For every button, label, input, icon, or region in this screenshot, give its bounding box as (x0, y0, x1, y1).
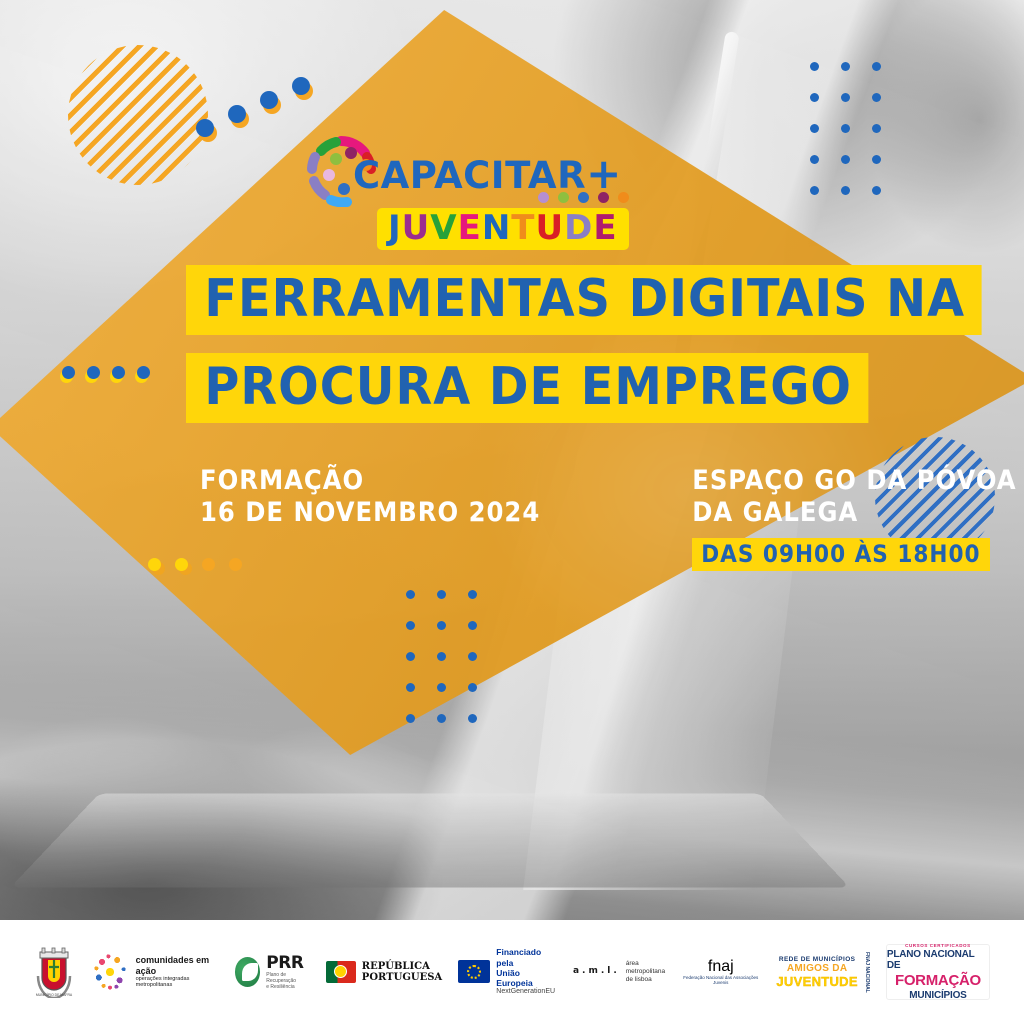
grid-dot (437, 652, 446, 661)
event-date-text: FORMAÇÃO 16 DE NOVEMBRO 2024 (200, 465, 540, 529)
comunidades-burst-icon (90, 949, 130, 995)
event-details: FORMAÇÃO 16 DE NOVEMBRO 2024 ESPAÇO GO D… (200, 465, 1017, 571)
grid-dot (810, 62, 819, 71)
capacitar-juventude-logo: CAPACITAR+ JUVENTUDE (305, 133, 725, 253)
event-venue-text: ESPAÇO GO DA PÓVOA DA GALEGA (692, 465, 1016, 529)
grid-dot (406, 590, 415, 599)
juventude-letter: U (402, 208, 431, 248)
capacitar-dot (598, 192, 609, 203)
grid-dot (872, 124, 881, 133)
grid-dot (872, 186, 881, 195)
rede-line-2: AMIGOS DA (776, 963, 857, 974)
grid-dot (406, 714, 415, 723)
juventude-letter: E (593, 208, 617, 248)
logo-comunidades-em-acao: comunidades em ação operações integradas… (90, 949, 219, 995)
fnaj-word-1: fn (708, 958, 721, 975)
prr-leaf-icon (235, 957, 261, 987)
logo-area-metropolitana-lisboa: a.m.l. área metropolitana de lisboa (573, 960, 665, 983)
rede-line-3: JUVENTUDE (776, 974, 857, 989)
portugal-flag-icon (326, 961, 356, 983)
title-line-1: FERRAMENTAS DIGITAIS NA (186, 265, 981, 335)
juventude-letter: E (458, 208, 482, 248)
grid-dot (437, 714, 446, 723)
grid-dot (841, 62, 850, 71)
capacitar-dot (538, 192, 549, 203)
juventude-letter: J (388, 208, 402, 248)
republica-line-2: PORTUGUESA (362, 972, 442, 983)
poster-title: FERRAMENTAS DIGITAIS NA PROCURA DE EMPRE… (186, 265, 966, 423)
grid-dot (468, 714, 477, 723)
grid-dot (872, 155, 881, 164)
eu-line-2: União Europeia (496, 968, 557, 988)
coat-of-arms-icon: MUNICÍPIO DE MAFRA (34, 946, 74, 998)
capacitar-dot (578, 192, 589, 203)
capacitar-plus-sign: + (586, 149, 622, 198)
grid-dot (841, 155, 850, 164)
juventude-letter: T (511, 208, 535, 248)
grid-dot (841, 93, 850, 102)
title-line-2: PROCURA DE EMPREGO (186, 353, 868, 423)
event-time-badge: DAS 09H00 ÀS 18H00 (692, 538, 989, 571)
aml-line-1: área (626, 960, 665, 968)
comunidades-line-1: comunidades em ação (136, 955, 219, 976)
grid-dot (437, 590, 446, 599)
grid-dot (810, 186, 819, 195)
capacitar-dot (618, 192, 629, 203)
aml-monogram: a.m.l. (573, 966, 620, 977)
logo-republica-portuguesa: REPÚBLICA PORTUGUESA (326, 961, 442, 983)
coat-of-arms-caption: MUNICÍPIO DE MAFRA (36, 993, 73, 997)
capacitar-wordmark: CAPACITAR+ (353, 149, 622, 198)
grid-dot (872, 93, 881, 102)
striped-circle-orange-icon (68, 45, 208, 185)
event-detail-date: FORMAÇÃO 16 DE NOVEMBRO 2024 (200, 465, 540, 571)
juventude-letter: U (536, 208, 565, 248)
comunidades-line-2: operações integradas metropolitanas (136, 976, 219, 989)
republica-line-1: REPÚBLICA (362, 961, 442, 972)
logo-municipal-coat-of-arms: MUNICÍPIO DE MAFRA (34, 946, 74, 998)
grid-dot (406, 683, 415, 692)
capacitar-text: CAPACITAR (353, 154, 586, 197)
eu-line-3: NextGenerationEU (496, 988, 557, 996)
eu-flag-icon (458, 960, 490, 983)
pnf-line-1: PLANO NACIONAL DE (887, 949, 989, 971)
pnf-line-0: CURSOS CERTIFICADOS (905, 943, 971, 948)
logo-rede-municipios-amigos-juventude: REDE DE MUNICÍPIOS AMIGOS DA JUVENTUDE F… (776, 952, 869, 993)
juventude-letter: N (482, 208, 511, 248)
capacitar-dot (558, 192, 569, 203)
fnaj-subtitle: Federação Nacional das Associações Juven… (681, 976, 760, 986)
eu-line-1: Financiado pela (496, 947, 557, 967)
grid-dot (468, 621, 477, 630)
grid-dot (810, 155, 819, 164)
logo-prr: PRR Plano de Recuperação e Resiliência (235, 953, 310, 990)
aml-line-3: de lisboa (626, 976, 665, 984)
fnaj-word-2: aj (721, 958, 733, 975)
prr-wordmark: PRR (266, 953, 310, 973)
grid-dot (468, 590, 477, 599)
event-detail-venue: ESPAÇO GO DA PÓVOA DA GALEGA DAS 09H00 À… (692, 465, 1016, 571)
prr-line-2: e Resiliência (266, 985, 310, 991)
juventude-letter: D (564, 208, 593, 248)
grid-dot (406, 652, 415, 661)
logo-plano-nacional-formacao: CURSOS CERTIFICADOS PLANO NACIONAL DE FO… (886, 944, 990, 1000)
juventude-letter: V (430, 208, 457, 248)
grid-dot (810, 93, 819, 102)
dots-row-left-blue (62, 366, 150, 379)
grid-dot (468, 683, 477, 692)
grid-dot (468, 652, 477, 661)
grid-dot (841, 124, 850, 133)
logo-fnaj: fnaj Federação Nacional das Associações … (681, 958, 760, 986)
rede-side-label: FNAJ NACIONAL (864, 952, 870, 993)
dot-grid-top-right (810, 62, 881, 195)
capacitar-dots-decoration (538, 192, 629, 203)
footer-logo-strip: MUNICÍPIO DE MAFRA comunidades em ação o… (0, 920, 1024, 1024)
poster-canvas: CAPACITAR+ JUVENTUDE FERRAMENTAS DIGITAI… (0, 0, 1024, 1024)
pnf-line-2: FORMAÇÃO (895, 972, 981, 989)
juventude-wordmark: JUVENTUDE (377, 208, 629, 250)
dot-grid-bottom-center (406, 590, 477, 723)
grid-dot (872, 62, 881, 71)
grid-dot (406, 621, 415, 630)
grid-dot (437, 683, 446, 692)
pnf-line-3: MUNICÍPIOS (909, 990, 966, 1001)
grid-dot (810, 124, 819, 133)
rede-line-1: REDE DE MUNICÍPIOS (776, 956, 857, 963)
aml-line-2: metropolitana (626, 968, 665, 976)
logo-uniao-europeia: Financiado pela União Europeia NextGener… (458, 947, 557, 996)
diagonal-dots-decoration (196, 75, 306, 135)
grid-dot (437, 621, 446, 630)
grid-dot (841, 186, 850, 195)
